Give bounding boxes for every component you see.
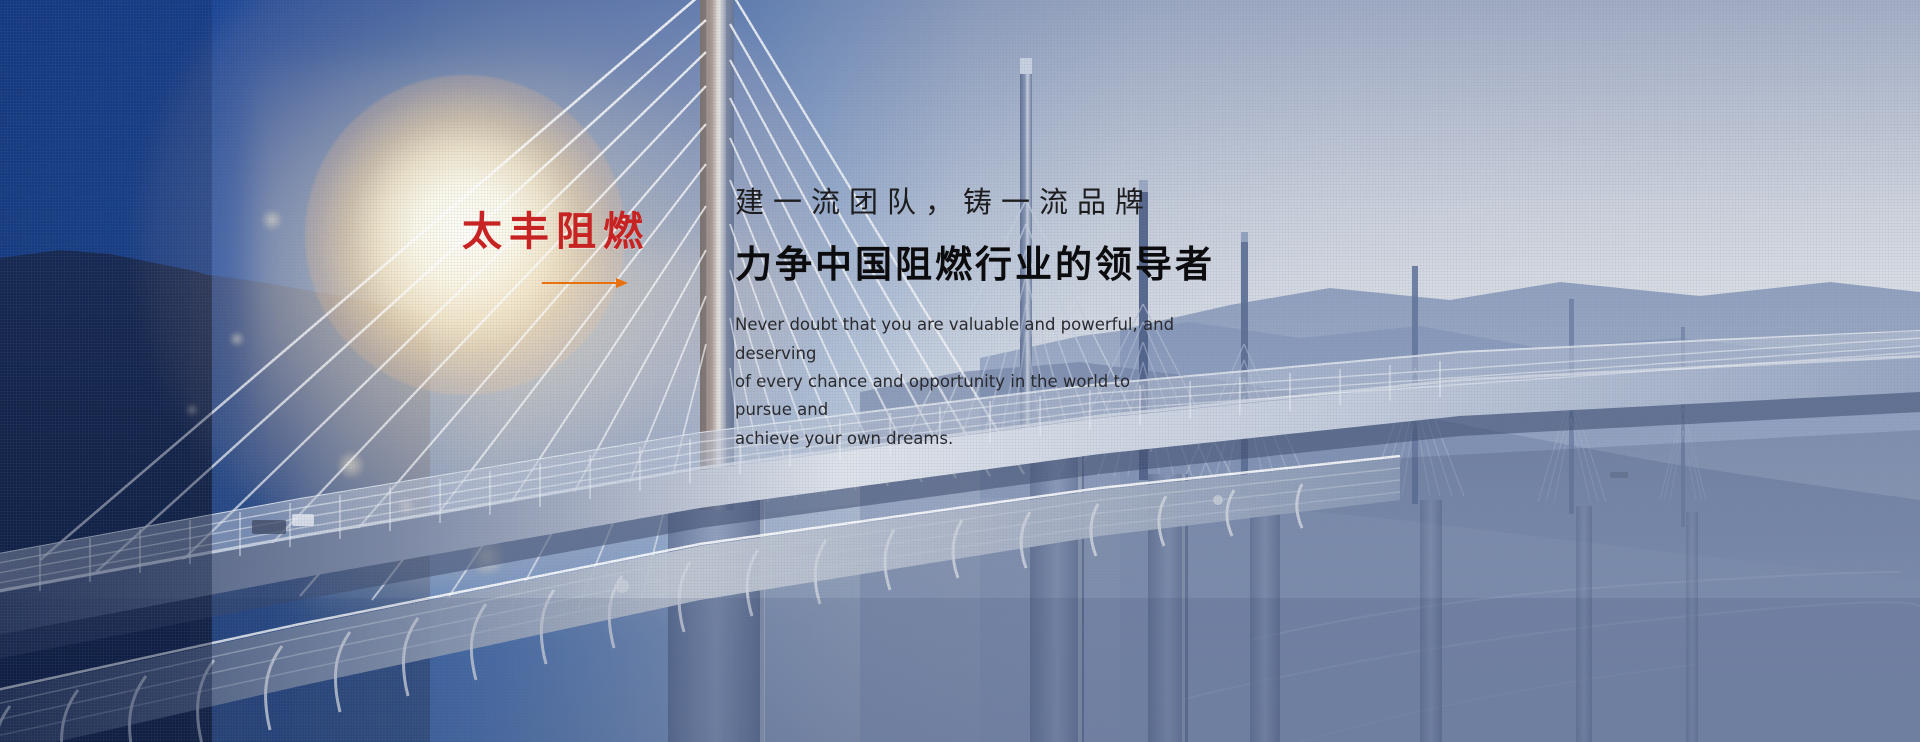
headline-subtitle: 建一流团队，铸一流品牌 [735,186,1435,221]
banner-content: 太丰阻燃 建一流团队，铸一流品牌 力争中国阻燃行业的领导者 Never doub… [0,0,1920,742]
headline-block: 建一流团队，铸一流品牌 力争中国阻燃行业的领导者 Never doubt tha… [735,186,1435,453]
arrow-head [616,278,628,288]
arrow-right-icon [542,278,628,288]
arrow-shaft [542,282,620,284]
hero-banner: 太丰阻燃 建一流团队，铸一流品牌 力争中国阻燃行业的领导者 Never doub… [0,0,1920,742]
brand-logo-text: 太丰阻燃 [462,212,722,252]
brand-logo[interactable]: 太丰阻燃 [462,212,722,288]
headline-description: Never doubt that you are valuable and po… [735,311,1187,453]
headline-title: 力争中国阻燃行业的领导者 [735,244,1435,287]
